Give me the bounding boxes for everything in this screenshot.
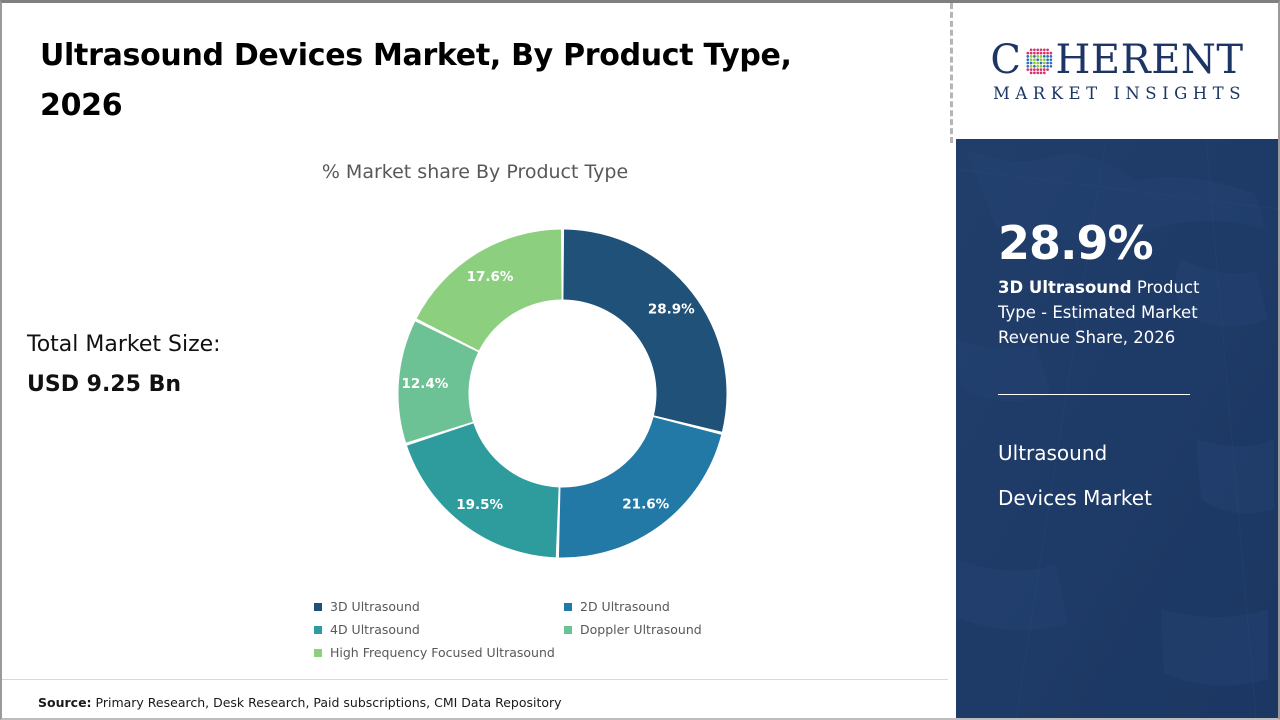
infographic-page: Ultrasound Devices Market, By Product Ty… bbox=[0, 0, 1280, 720]
source-text: Primary Research, Desk Research, Paid su… bbox=[92, 695, 562, 710]
chart-subtitle: % Market share By Product Type bbox=[2, 161, 948, 183]
vertical-dashed-divider bbox=[950, 3, 953, 143]
legend-item-high-frequency-focused-ultrasound[interactable]: High Frequency Focused Ultrasound bbox=[314, 645, 784, 660]
right-sidebar: C HERENT MARKET INSIGHTS bbox=[956, 3, 1278, 718]
donut-slice-label: 17.6% bbox=[467, 269, 514, 285]
panel-footer-title: Ultrasound Devices Market bbox=[998, 431, 1236, 521]
legend-swatch-icon bbox=[564, 626, 572, 634]
donut-slice-label: 28.9% bbox=[648, 302, 695, 318]
legend-row: 3D Ultrasound 2D Ultrasound bbox=[314, 599, 784, 614]
logo-wordmark: C HERENT bbox=[990, 40, 1243, 80]
legend-item-doppler-ultrasound[interactable]: Doppler Ultrasound bbox=[564, 622, 784, 637]
legend-label: 3D Ultrasound bbox=[330, 599, 420, 614]
legend-item-4d-ultrasound[interactable]: 4D Ultrasound bbox=[314, 622, 564, 637]
legend-swatch-icon bbox=[314, 603, 322, 611]
donut-slice-label: 19.5% bbox=[456, 497, 503, 513]
legend-label: Doppler Ultrasound bbox=[580, 622, 702, 637]
total-market-size-value: USD 9.25 Bn bbox=[27, 365, 221, 405]
legend-row: High Frequency Focused Ultrasound bbox=[314, 645, 784, 660]
source-divider bbox=[2, 679, 948, 680]
donut-slice[interactable] bbox=[417, 230, 562, 351]
donut-slice-label: 12.4% bbox=[401, 376, 448, 392]
donut-slice-label: 21.6% bbox=[622, 497, 669, 513]
legend-swatch-icon bbox=[314, 649, 322, 657]
donut-slice[interactable] bbox=[559, 417, 721, 557]
legend-label: 2D Ultrasound bbox=[580, 599, 670, 614]
donut-slice[interactable] bbox=[407, 423, 559, 557]
source-note: Source: Primary Research, Desk Research,… bbox=[38, 695, 562, 710]
total-market-size-block: Total Market Size: USD 9.25 Bn bbox=[27, 325, 221, 405]
stat-description: 3D Ultrasound Product Type - Estimated M… bbox=[998, 275, 1236, 350]
donut-slice-group bbox=[399, 230, 727, 558]
logo-word-part1: C bbox=[990, 40, 1021, 80]
legend-item-2d-ultrasound[interactable]: 2D Ultrasound bbox=[564, 599, 784, 614]
stat-description-strong: 3D Ultrasound bbox=[998, 278, 1132, 297]
legend-swatch-icon bbox=[314, 626, 322, 634]
highlight-panel: 28.9% 3D Ultrasound Product Type - Estim… bbox=[956, 139, 1278, 718]
legend-row: 4D Ultrasound Doppler Ultrasound bbox=[314, 622, 784, 637]
chart-legend: 3D Ultrasound 2D Ultrasound 4D Ultrasoun… bbox=[314, 599, 784, 668]
donut-chart: 28.9%21.6%19.5%12.4%17.6% bbox=[390, 221, 735, 566]
legend-label: High Frequency Focused Ultrasound bbox=[330, 645, 555, 660]
brand-logo: C HERENT MARKET INSIGHTS bbox=[956, 3, 1278, 139]
legend-item-3d-ultrasound[interactable]: 3D Ultrasound bbox=[314, 599, 564, 614]
legend-swatch-icon bbox=[564, 603, 572, 611]
source-label: Source: bbox=[38, 695, 92, 710]
logo-word-part2: HERENT bbox=[1056, 40, 1244, 80]
left-content-pane: Ultrasound Devices Market, By Product Ty… bbox=[2, 3, 948, 718]
donut-slice[interactable] bbox=[563, 230, 726, 432]
panel-divider-rule bbox=[998, 394, 1190, 395]
stat-value: 28.9% bbox=[998, 219, 1236, 267]
legend-label: 4D Ultrasound bbox=[330, 622, 420, 637]
highlight-panel-content: 28.9% 3D Ultrasound Product Type - Estim… bbox=[956, 139, 1278, 718]
donut-chart-svg: 28.9%21.6%19.5%12.4%17.6% bbox=[390, 221, 735, 566]
logo-tagline: MARKET INSIGHTS bbox=[988, 84, 1246, 103]
page-title: Ultrasound Devices Market, By Product Ty… bbox=[40, 31, 870, 131]
globe-dots-icon bbox=[1023, 45, 1055, 77]
total-market-size-label: Total Market Size: bbox=[27, 325, 221, 365]
